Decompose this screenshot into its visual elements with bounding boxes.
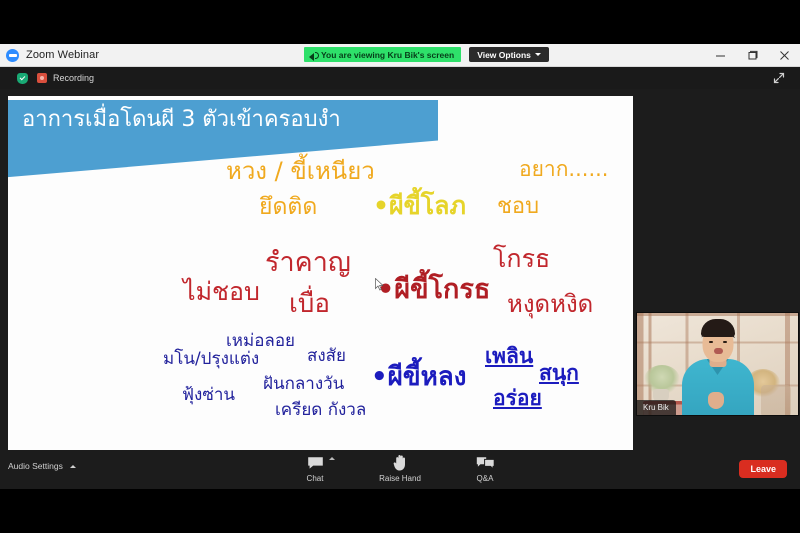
maximize-button[interactable] <box>736 44 768 67</box>
chat-icon-wrap <box>307 454 324 471</box>
participant-name-label: Kru Bik <box>637 400 676 415</box>
chat-bubble-icon <box>307 456 324 470</box>
slide-word: ชอบ <box>497 196 539 218</box>
slide-group-heading-greed: •ผีขี้โลภ <box>373 193 466 218</box>
slide-title: อาการเมื่อโดนผี 3 ตัวเข้าครอบงำ <box>22 106 341 134</box>
slide-word: เหม่อลอย <box>226 333 295 350</box>
recording-label: Recording <box>53 73 94 83</box>
fullscreen-expand-icon[interactable] <box>768 67 790 89</box>
view-options-label: View Options <box>477 50 531 60</box>
shield-check-icon <box>17 73 28 84</box>
raise-hand-button[interactable]: Raise Hand <box>374 454 426 483</box>
slide-group-heading-delusion: •ผีขี้หลง <box>371 364 466 390</box>
toolbar-actions: Chat Raise Hand Q&A <box>289 454 511 483</box>
hand-icon <box>393 454 407 471</box>
audio-settings-button[interactable]: Audio Settings <box>8 461 76 471</box>
close-button[interactable] <box>768 44 800 67</box>
audio-settings-label: Audio Settings <box>8 461 63 471</box>
zoom-webinar-window: Zoom Webinar You are viewing Kru Bik's s… <box>0 0 800 533</box>
slide-word: อร่อย <box>493 388 542 409</box>
title-bar: Zoom Webinar You are viewing Kru Bik's s… <box>0 44 800 67</box>
chevron-up-icon[interactable] <box>329 457 335 460</box>
slide-word: เพลิน <box>485 346 533 367</box>
qa-label: Q&A <box>477 474 494 483</box>
person-hair <box>701 319 735 337</box>
meeting-toolbar: Audio Settings Chat Raise <box>0 450 800 489</box>
slide-word: หงุดหงิด <box>507 292 593 316</box>
chevron-down-icon <box>535 53 541 56</box>
person-mouth <box>714 348 723 354</box>
viewing-screen-notice: You are viewing Kru Bik's screen <box>304 47 461 62</box>
recording-bar: Recording <box>0 67 800 89</box>
view-options-button[interactable]: View Options <box>469 47 549 62</box>
raise-hand-icon-wrap <box>393 454 407 471</box>
chat-label: Chat <box>307 474 324 483</box>
slide-group-heading-anger: •ผีขี้โกรธ <box>377 276 490 303</box>
window-controls <box>704 44 800 67</box>
slide-word: ไม่ชอบ <box>183 279 260 304</box>
slide-word: ฝันกลางวัน <box>263 376 344 393</box>
slide-word: มโน/ปรุงแต่ง <box>163 351 259 368</box>
speaker-video-tile[interactable]: Kru Bik <box>636 312 799 416</box>
record-icon <box>37 73 47 83</box>
person-eye-left <box>709 341 713 344</box>
window-title: Zoom Webinar <box>26 49 99 61</box>
zoom-icon <box>6 49 19 62</box>
mouse-cursor <box>375 278 384 291</box>
chevron-up-icon <box>70 465 76 468</box>
qa-bubbles-icon <box>476 456 495 470</box>
screen-share-notice-group: You are viewing Kru Bik's screen View Op… <box>304 47 549 62</box>
slide-word: หวง / ขี้เหนียว <box>226 159 375 183</box>
qa-button[interactable]: Q&A <box>459 454 511 483</box>
person-hand <box>708 392 724 409</box>
letterbox-bottom <box>0 489 800 533</box>
slide-word: ยึดติด <box>259 196 317 219</box>
slide-word: รำคาญ <box>265 249 351 276</box>
leave-button[interactable]: Leave <box>739 460 787 478</box>
slide-word: ฟุ้งซ่าน <box>182 387 235 404</box>
slide-word: โกรธ <box>493 246 550 271</box>
minimize-button[interactable] <box>704 44 736 67</box>
slide-word: เครียด กังวล <box>275 402 366 419</box>
slide-word: สงสัย <box>307 348 346 365</box>
chair-right <box>761 385 791 416</box>
slide-word: เบื่อ <box>289 291 330 317</box>
chat-button[interactable]: Chat <box>289 454 341 483</box>
slide-word: สนุก <box>539 363 579 384</box>
raise-hand-label: Raise Hand <box>379 474 421 483</box>
shared-slide: อาการเมื่อโดนผี 3 ตัวเข้าครอบงำ หวง / ขี… <box>8 96 633 450</box>
speaker-icon <box>309 50 318 59</box>
qa-icon-wrap <box>476 454 495 471</box>
slide-word: อยาก...... <box>519 159 608 180</box>
person-eye-right <box>723 341 727 344</box>
letterbox-top <box>0 0 800 44</box>
viewing-screen-notice-label: You are viewing Kru Bik's screen <box>321 50 454 60</box>
share-stage: อาการเมื่อโดนผี 3 ตัวเข้าครอบงำ หวง / ขี… <box>0 89 800 450</box>
